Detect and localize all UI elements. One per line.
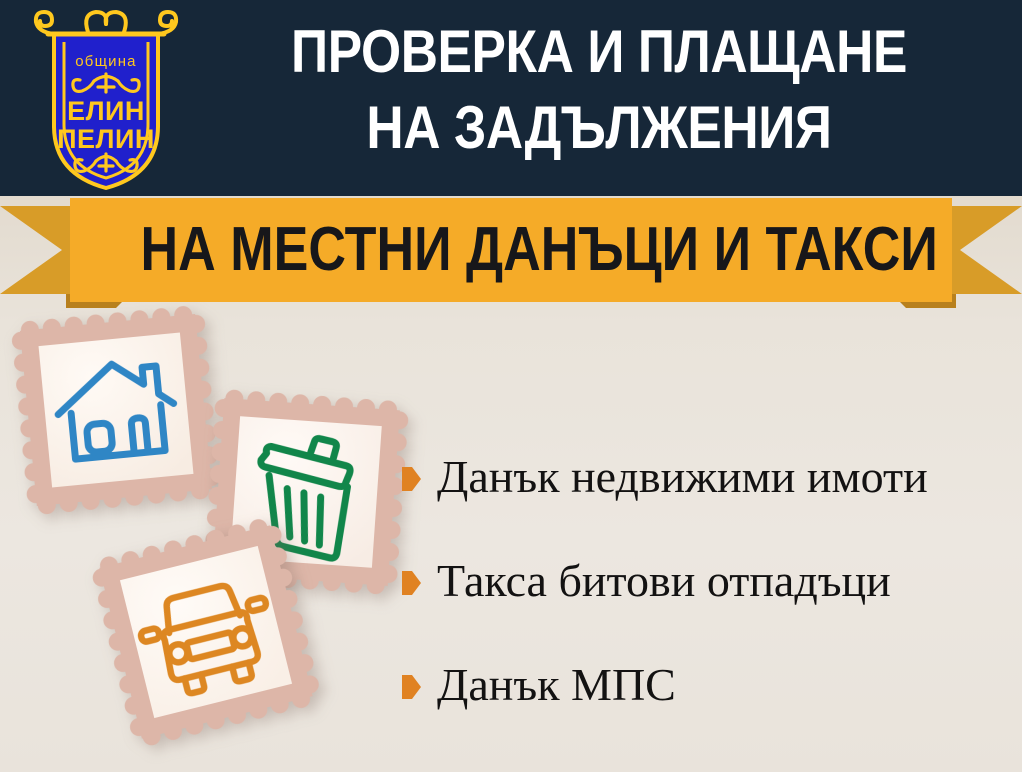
ribbon-banner: НА МЕСТНИ ДАНЪЦИ И ТАКСИ	[0, 198, 1022, 302]
list-item[interactable]: Такса битови отпадъци	[402, 529, 1014, 633]
logo-text-pelin: ПЕЛИН	[57, 124, 155, 154]
coat-of-arms-shield-icon: община ЕЛИН ПЕЛИН	[28, 8, 184, 190]
bullet-arrow-icon	[402, 675, 421, 699]
logo-text-obshtina: община	[75, 53, 136, 70]
list-item[interactable]: Данък МПС	[402, 633, 1014, 737]
services-list: Данък недвижими имоти Такса битови отпад…	[402, 425, 1014, 737]
logo-text-elin: ЕЛИН	[67, 96, 145, 126]
page-title: ПРОВЕРКА И ПЛАЩАНЕ НА ЗАДЪЛЖЕНИЯ	[244, 14, 954, 166]
poster-canvas: ПРОВЕРКА И ПЛАЩАНЕ НА ЗАДЪЛЖЕНИЯ община	[0, 0, 1022, 772]
list-item-label: Данък недвижими имоти	[437, 453, 928, 501]
list-item-label: Такса битови отпадъци	[437, 557, 891, 605]
stamp-card-property	[9, 303, 223, 517]
bullet-arrow-icon	[402, 467, 421, 491]
municipality-logo: община ЕЛИН ПЕЛИН	[28, 8, 184, 190]
list-item-label: Данък МПС	[437, 661, 676, 709]
bullet-arrow-icon	[402, 571, 421, 595]
list-item[interactable]: Данък недвижими имоти	[402, 425, 1014, 529]
ribbon-label: НА МЕСТНИ ДАНЪЦИ И ТАКСИ	[141, 198, 882, 302]
